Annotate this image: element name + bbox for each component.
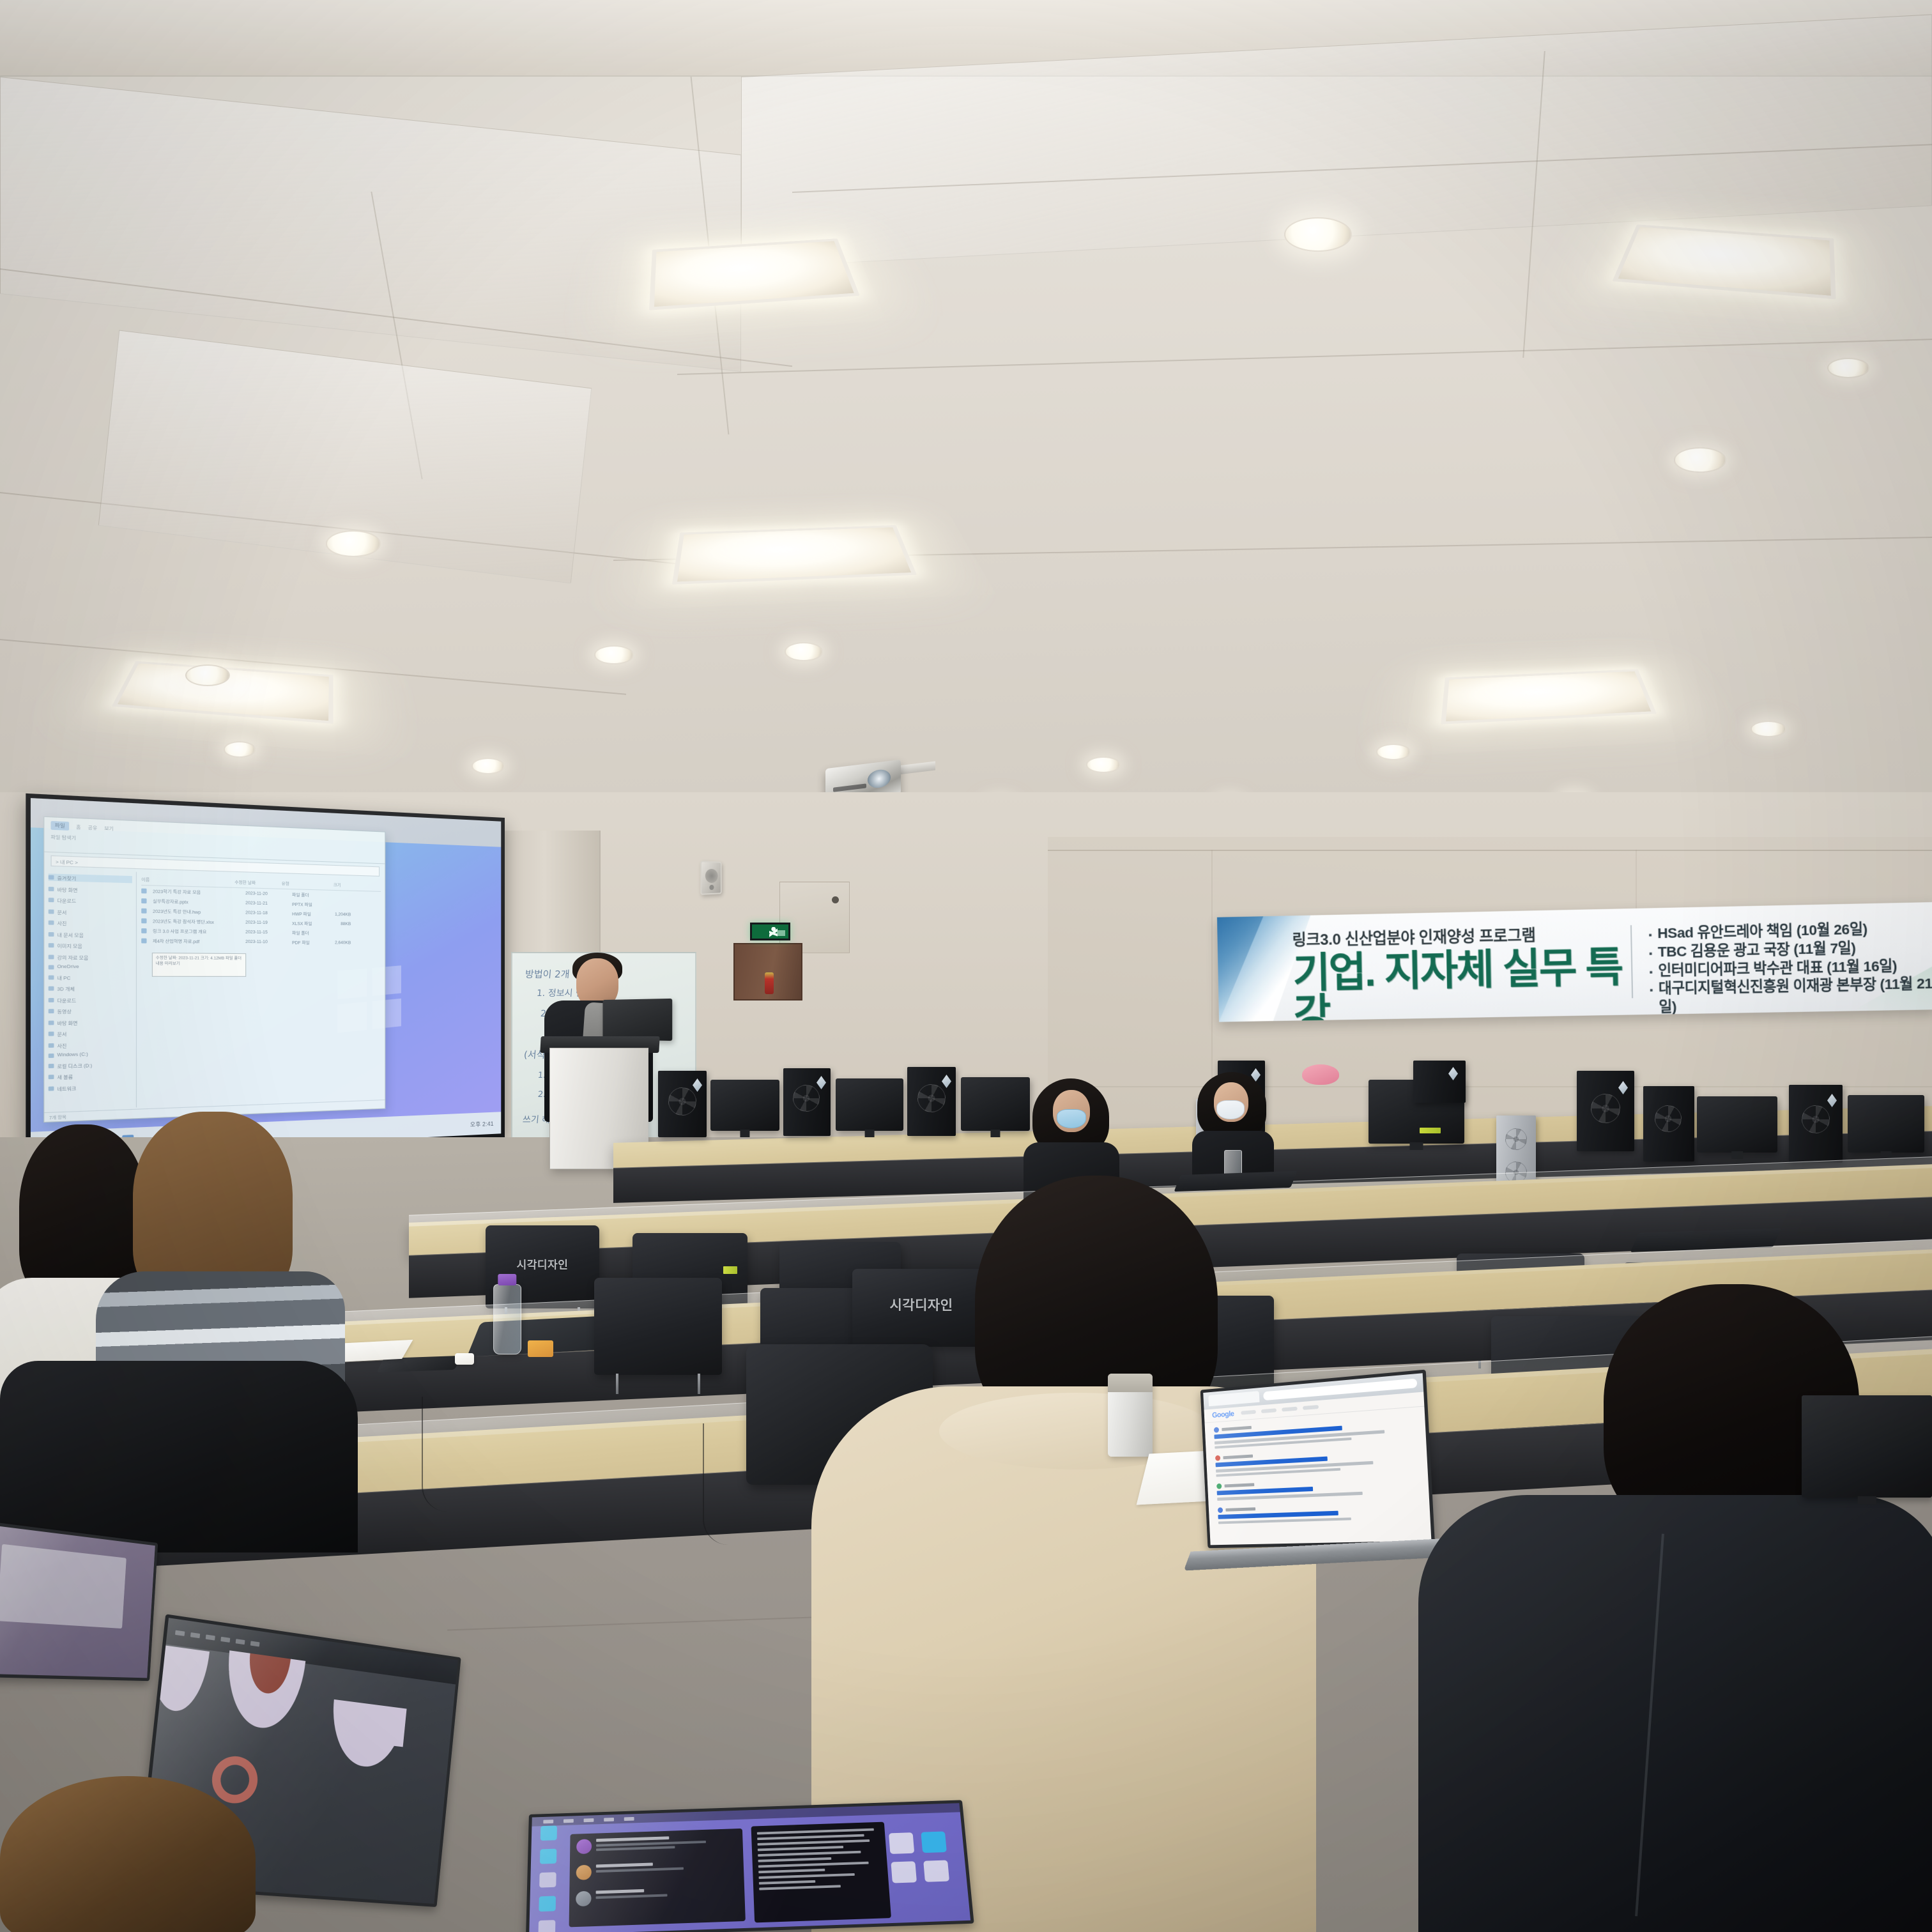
nav-item-label: 내 문서 모음	[57, 930, 84, 938]
bullet-icon: ▪	[1649, 966, 1652, 978]
cloud-icon	[49, 965, 54, 969]
bullet-icon: ▪	[1650, 985, 1653, 997]
face-mask	[1057, 1109, 1086, 1128]
folder-icon	[49, 1009, 54, 1013]
wall-speaker	[700, 861, 721, 895]
chair-sticker	[723, 1266, 737, 1274]
folder-icon	[49, 875, 54, 880]
avatar	[576, 1839, 592, 1855]
pc-tower	[1577, 1071, 1634, 1151]
ceiling-downlight	[1284, 217, 1352, 252]
file-size: 1,204KB	[328, 912, 351, 917]
ceiling-downlight	[1827, 358, 1869, 378]
monitor	[710, 1080, 779, 1131]
col-type: 유형	[282, 880, 312, 887]
exit-door-icon	[777, 930, 785, 936]
projector-lens	[868, 769, 891, 789]
folder-icon	[49, 954, 54, 959]
file-row: 제4차 산업혁명 자료.pdf2023-11-10PDF 파일2,640KB	[141, 935, 381, 947]
file-date: 2023-11-21	[245, 900, 286, 906]
nav-item-label: Windows (C:)	[57, 1052, 88, 1058]
file-tooltip: 수정한 날짜: 2023-11-21 크기: 4.12MB 파일 폴더 내용 미…	[152, 953, 246, 977]
chair-label: 시각디자인	[517, 1255, 569, 1271]
pc-tower	[907, 1067, 956, 1136]
file-type: 파일 폴더	[292, 891, 323, 898]
favicon	[1214, 1427, 1219, 1433]
nav-item-label: 바탕 화면	[57, 885, 77, 893]
man-leather-jacket	[1457, 1284, 1932, 1932]
avatar	[576, 1891, 591, 1907]
file-explorer-window: 파일 홈 공유 보기 파일 탐색기 > 내 PC > 즐겨찾기 바탕 화면 다운…	[43, 816, 385, 1123]
bullet-icon: ▪	[1649, 947, 1652, 960]
ceiling-downlight	[1674, 447, 1726, 473]
cable	[422, 1397, 457, 1512]
file-size	[328, 895, 351, 896]
monitor	[836, 1078, 903, 1131]
ribbon-tab-view: 보기	[104, 824, 114, 832]
file-type: XLSX 파일	[292, 920, 323, 926]
panel-knob	[832, 896, 839, 903]
folder-icon	[49, 943, 54, 947]
pink-cap	[1302, 1064, 1339, 1085]
ceiling-downlight	[471, 758, 505, 774]
file-name: 2023년도 특강 안내.hwp	[153, 907, 240, 915]
file-icon	[141, 938, 146, 943]
face-mask	[1216, 1100, 1245, 1119]
laptop-chat-app	[526, 1800, 974, 1932]
lecture-hall-photo: 파일 홈 공유 보기 파일 탐색기 > 내 PC > 즐겨찾기 바탕 화면 다운…	[0, 0, 1932, 1932]
pc-tower	[1789, 1085, 1843, 1163]
file-date: 2023-11-15	[245, 930, 286, 935]
file-icon	[141, 888, 146, 893]
monitor	[1697, 1096, 1777, 1153]
thermos-lid	[1108, 1374, 1153, 1392]
file-icon	[141, 918, 146, 923]
ceiling-downlight	[1751, 721, 1786, 737]
ceiling-downlight	[224, 741, 256, 758]
file-size: 88KB	[328, 921, 351, 926]
nav-item-label: 다운로드	[57, 896, 76, 904]
ceiling-light-panel	[1441, 669, 1657, 724]
file-list-pane: 이름 수정한 날짜 유형 크기 2023학기 특강 자료 모음2023-11-2…	[137, 872, 385, 1108]
nav-item-label: 네트워크	[57, 1084, 76, 1092]
nav-item-label: 문서	[57, 908, 66, 916]
folder-icon	[49, 909, 54, 914]
pc-icon	[49, 975, 54, 979]
ceiling-downlight	[326, 530, 381, 557]
water-bottle	[493, 1284, 521, 1354]
pc-tower	[658, 1071, 707, 1137]
folder-icon	[49, 986, 54, 991]
favicon	[1215, 1455, 1220, 1461]
desktop-icons	[538, 1826, 557, 1932]
nav-item-label: 즐겨찾기	[57, 874, 76, 882]
fire-extinguisher	[765, 972, 774, 994]
file-name: 2023학기 특강 자료 모음	[153, 887, 240, 896]
projection-screen: 파일 홈 공유 보기 파일 탐색기 > 내 PC > 즐겨찾기 바탕 화면 다운…	[26, 793, 505, 1161]
nav-item-label: 바탕 화면	[57, 1018, 77, 1026]
ceiling-light-panel	[672, 525, 917, 585]
student-masked-blue	[1023, 1078, 1119, 1181]
file-icon	[141, 898, 146, 903]
thermos	[1108, 1374, 1153, 1457]
app-window	[0, 1544, 126, 1629]
ceiling-downlight	[1086, 756, 1121, 773]
folder-icon	[49, 1020, 54, 1025]
projection-screen-surface: 파일 홈 공유 보기 파일 탐색기 > 내 PC > 즐겨찾기 바탕 화면 다운…	[31, 798, 501, 1157]
ceiling-downlight	[594, 645, 634, 664]
search-filter-chips	[1241, 1405, 1319, 1415]
monitor	[1802, 1395, 1932, 1498]
file-type: 파일 폴더	[292, 930, 323, 936]
favicon	[1216, 1483, 1222, 1489]
leather-jacket	[1418, 1495, 1932, 1932]
file-size	[328, 905, 351, 905]
avatar	[576, 1865, 592, 1880]
file-size: 2,640KB	[328, 940, 351, 945]
ceiling-downlight	[185, 664, 230, 686]
monitor	[961, 1077, 1030, 1131]
wall-seam	[1048, 850, 1932, 851]
earbuds-case	[455, 1353, 474, 1365]
folder-icon	[49, 931, 54, 936]
drive-icon	[49, 1063, 54, 1068]
bullet-icon: ▪	[1648, 929, 1652, 941]
sticky-note	[528, 1340, 553, 1357]
file-type: PPTX 파일	[292, 901, 323, 908]
coat-on-chair	[0, 1361, 358, 1552]
ceiling	[0, 0, 1932, 856]
ceiling-light-panel	[1612, 224, 1836, 299]
podium-monitor	[602, 999, 672, 1041]
drive-icon	[49, 1075, 54, 1079]
file-name: 링크 3.0 사업 프로그램 개요	[153, 928, 240, 935]
nav-item-label: OneDrive	[57, 964, 79, 969]
cable	[703, 1423, 747, 1545]
file-date: 2023-11-20	[245, 891, 286, 896]
nav-item-label: 사진	[57, 919, 66, 927]
note-window	[751, 1821, 891, 1923]
pc-tower	[1643, 1086, 1694, 1161]
desktop-shortcuts	[889, 1831, 949, 1883]
nav-item-label: 이미지 모음	[57, 942, 82, 949]
wall-seam	[1211, 850, 1213, 1105]
file-name: 2023년도 특강 참석자 명단.xlsx	[153, 917, 240, 925]
google-logo: Google	[1212, 1409, 1234, 1420]
projector-vent	[833, 784, 866, 792]
navigation-pane: 즐겨찾기 바탕 화면 다운로드 문서 사진 내 문서 모음 이미지 모음 강의 …	[44, 869, 137, 1110]
speaker-tweeter	[709, 885, 714, 890]
monitor-asset-label	[1420, 1128, 1441, 1133]
exit-sign	[750, 923, 790, 940]
folder-icon	[49, 1043, 54, 1047]
explorer-window-title: 파일 탐색기	[50, 832, 75, 841]
file-name: 실무특강자료.pptx	[153, 898, 240, 906]
nav-item-label: 강의 자료 모음	[57, 953, 88, 961]
file-icon	[141, 928, 146, 933]
col-name: 이름	[141, 877, 229, 885]
nav-item-label: 로컬 디스크 (D:)	[57, 1061, 92, 1069]
letterform-stem	[385, 1706, 407, 1747]
drive-icon	[49, 1053, 54, 1057]
laptop-left	[0, 1521, 158, 1681]
col-size: 크기	[318, 882, 341, 889]
monitor	[1848, 1095, 1924, 1153]
file-name: 제4차 산업혁명 자료.pdf	[153, 937, 240, 944]
file-date: 2023-11-18	[245, 910, 286, 916]
pc-tower	[783, 1068, 831, 1136]
file-type: PDF 파일	[292, 939, 323, 946]
chat-window	[569, 1828, 746, 1927]
file-icon	[141, 908, 146, 913]
nav-item-label: 사진	[57, 1041, 66, 1049]
nav-item-label: 동영상	[57, 1008, 71, 1015]
chair	[594, 1278, 722, 1375]
nav-item-label: 새 볼륨	[57, 1073, 73, 1080]
browser-tab	[1208, 1391, 1259, 1406]
ceiling-downlight	[785, 642, 823, 661]
file-date: 2023-11-10	[245, 939, 286, 944]
speaker-cone	[705, 869, 717, 883]
banner-title-block: 링크3.0 신산업분야 인재양성 프로그램 기업. 지자체 실무 특강 대구대학…	[1217, 908, 1632, 1022]
folder-icon	[49, 886, 54, 891]
folder-icon	[49, 921, 54, 925]
ceiling-light-panel	[649, 238, 860, 310]
student-bottom-left	[0, 1776, 268, 1932]
col-date: 수정한 날짜	[234, 879, 276, 887]
ribbon-tab-share: 공유	[88, 824, 98, 831]
ribbon-tab-file: 파일	[50, 821, 69, 831]
ribbon-tab-home: 홈	[76, 823, 80, 831]
nav-item-label: 문서	[57, 1030, 66, 1038]
pc-tower	[1413, 1061, 1466, 1103]
nav-item-label: 다운로드	[57, 996, 76, 1004]
laptop-google: Google	[1200, 1370, 1435, 1549]
banner-speaker-list: ▪ HSad 유안드레아 책임 (10월 26일) ▪ TBC 김용운 광고 국…	[1631, 902, 1932, 1015]
file-type: HWP 파일	[292, 910, 323, 917]
network-icon	[49, 1086, 54, 1091]
banner-title: 기업. 지자체 실무 특강	[1292, 946, 1632, 1022]
bottle-cap	[498, 1274, 516, 1285]
nav-item-label: 3D 개체	[57, 985, 74, 992]
event-banner: 링크3.0 신산업분야 인재양성 프로그램 기업. 지자체 실무 특강 대구대학…	[1217, 902, 1932, 1022]
taskbar-clock: 오후 2:41	[470, 1119, 494, 1128]
folder-icon	[49, 898, 54, 902]
file-date: 2023-11-19	[245, 920, 286, 926]
favicon	[1218, 1507, 1223, 1513]
folder-icon	[49, 997, 54, 1002]
nav-item-label: 내 PC	[57, 974, 70, 981]
folder-icon	[49, 1032, 54, 1036]
ceiling-downlight	[1376, 744, 1411, 760]
